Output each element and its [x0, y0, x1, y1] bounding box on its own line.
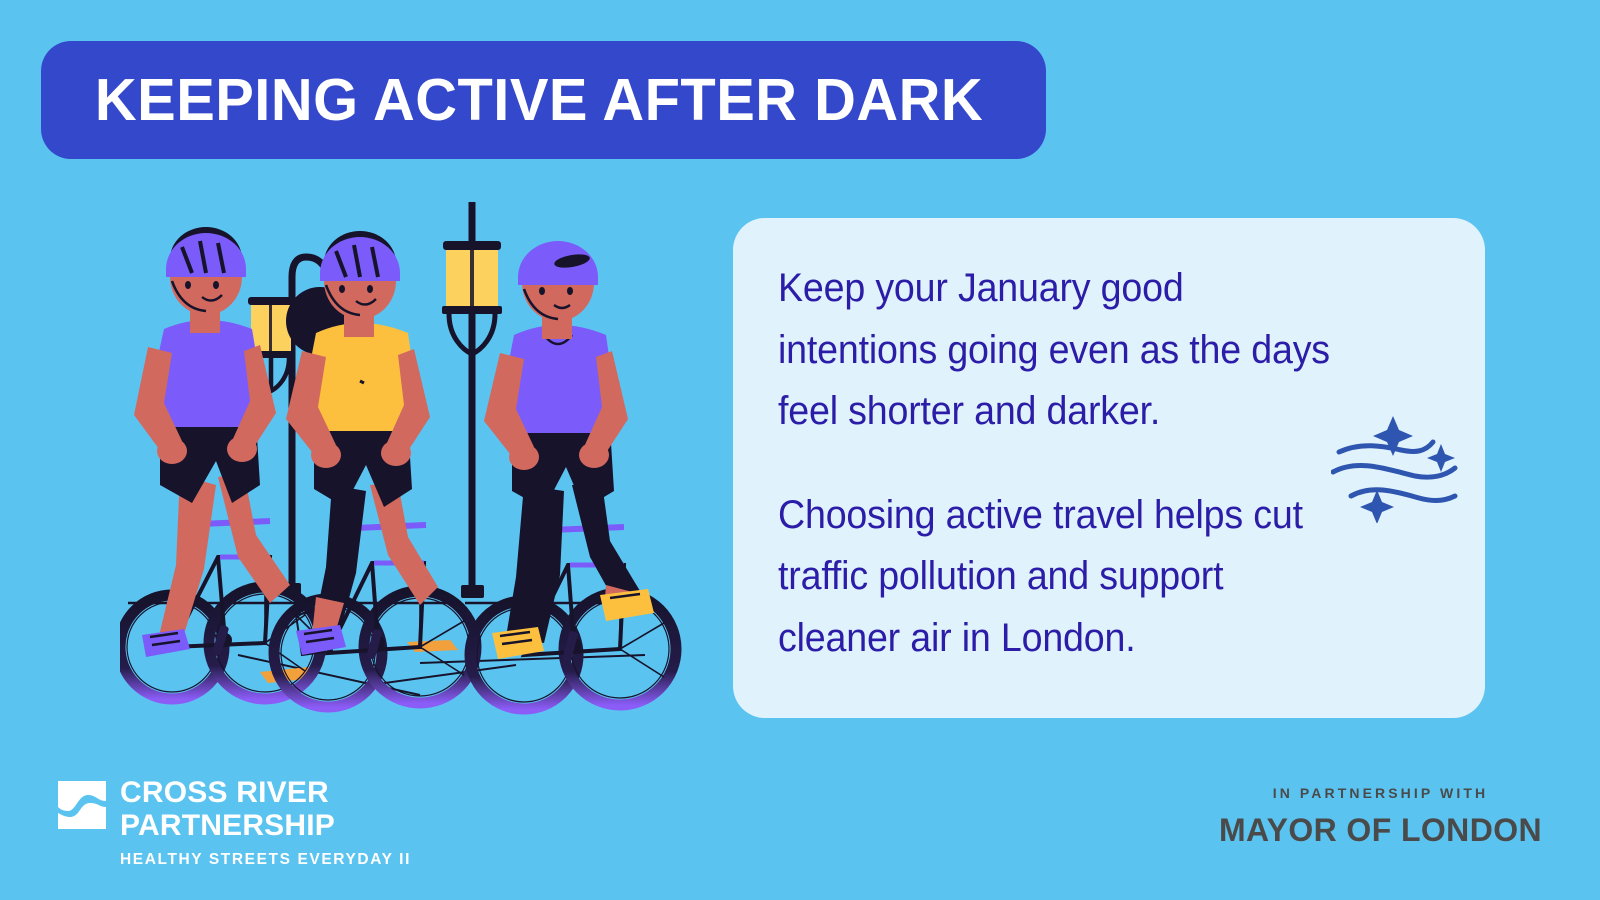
crp-tagline: HEALTHY STREETS EVERYDAY II [120, 851, 411, 869]
cross-river-partnership-logo: CROSS RIVER PARTNERSHIP HEALTHY STREETS … [58, 778, 411, 869]
crp-wordmark: CROSS RIVER PARTNERSHIP HEALTHY STREETS … [120, 778, 411, 869]
mayor-of-london-logo: IN PARTNERSHIP WITH MAYOR OF LONDON [1219, 785, 1542, 849]
cyclists-svg [120, 185, 700, 730]
crp-logo-mark-icon [58, 781, 106, 829]
message-paragraph-2: Choosing active travel helps cut traffic… [778, 485, 1351, 670]
message-card-body: Keep your January good intentions going … [778, 258, 1388, 670]
mayor-of-london-wordmark: MAYOR OF LONDON [1219, 812, 1542, 849]
sparkle-icon [1427, 444, 1455, 472]
message-card: Keep your January good intentions going … [733, 218, 1485, 718]
rider-two [274, 231, 476, 707]
message-paragraph-1: Keep your January good intentions going … [778, 258, 1351, 443]
crp-line-1: CROSS RIVER [120, 778, 411, 808]
partnership-kicker: IN PARTNERSHIP WITH [1219, 785, 1542, 801]
poster-canvas: KEEPING ACTIVE AFTER DARK [0, 0, 1600, 900]
three-cyclists-illustration [120, 185, 700, 730]
crp-line-2: PARTNERSHIP [120, 811, 411, 841]
page-title: KEEPING ACTIVE AFTER DARK [41, 71, 983, 130]
breeze-sparkle-icon [1331, 408, 1461, 523]
title-banner: KEEPING ACTIVE AFTER DARK [41, 41, 1046, 159]
bicycle-three [470, 527, 676, 710]
rider-one-legs [158, 475, 216, 647]
rider-one-hand [157, 438, 187, 464]
sparkle-icon [1360, 490, 1394, 523]
